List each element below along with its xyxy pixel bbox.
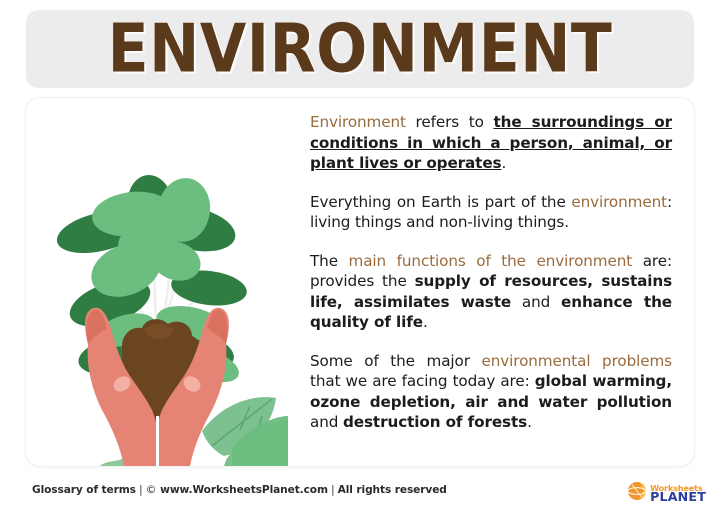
run-and-1: and xyxy=(511,293,561,311)
title-banner: ENVIRONMENT xyxy=(26,10,694,88)
worksheets-planet-logo[interactable]: Worksheets PLANET xyxy=(627,481,706,506)
copyright-icon: © xyxy=(146,483,157,496)
paragraph-major-problems: Some of the major environmental problems… xyxy=(310,351,672,433)
footer: Glossary of terms|© www.WorksheetsPlanet… xyxy=(0,478,720,509)
footer-separator-1: | xyxy=(136,484,146,496)
logo-word-planet: PLANET xyxy=(650,491,706,504)
paragraph-definition: Environment refers to the surroundings o… xyxy=(310,112,672,174)
term-environment: Environment xyxy=(310,113,406,131)
run-some-of-the-major: Some of the major xyxy=(310,352,481,370)
term-environmental-problems: environmental problems xyxy=(481,352,672,370)
run-period-3: . xyxy=(423,313,428,331)
page-title: ENVIRONMENT xyxy=(108,15,613,82)
footer-site-url[interactable]: www.WorksheetsPlanet.com xyxy=(160,484,328,496)
footer-separator-2: | xyxy=(328,484,338,496)
run-period-4: . xyxy=(527,413,532,431)
footer-glossary-label: Glossary of terms xyxy=(32,484,136,496)
run-refers-to: refers to xyxy=(406,113,494,131)
logo-wordmark: Worksheets PLANET xyxy=(650,484,706,504)
run-everything-on-earth: Everything on Earth is part of the xyxy=(310,193,571,211)
footer-rights: All rights reserved xyxy=(338,484,447,496)
run-facing-today: that we are facing today are: xyxy=(310,372,535,390)
paragraph-everything-on-earth: Everything on Earth is part of the envir… xyxy=(310,192,672,233)
content-card: Environment refers to the surroundings o… xyxy=(26,98,694,466)
run-and-2: and xyxy=(310,413,343,431)
illustration-hands-holding-plant xyxy=(26,98,288,466)
planet-ball-icon xyxy=(627,481,647,506)
footer-credits: Glossary of terms|© www.WorksheetsPlanet… xyxy=(32,483,447,496)
definition-text-column: Environment refers to the surroundings o… xyxy=(288,98,694,466)
paragraph-main-functions: The main functions of the environment ar… xyxy=(310,251,672,333)
run-the: The xyxy=(310,252,349,270)
problems-list-part-2: destruction of forests xyxy=(343,413,527,431)
term-main-functions: main functions of the environment xyxy=(349,252,633,270)
run-period-1: . xyxy=(501,154,506,172)
term-environment-2: environment xyxy=(571,193,667,211)
